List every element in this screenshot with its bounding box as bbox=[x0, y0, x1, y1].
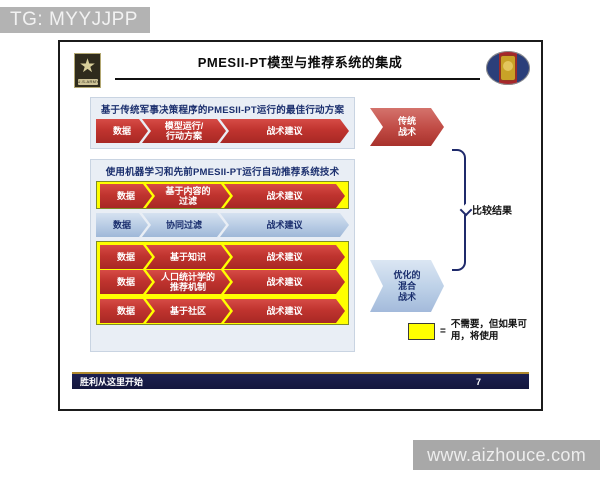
chevron-demographic-recommender: 人口统计学的推荐机制 bbox=[146, 270, 230, 294]
chevron-knowledge-based: 基于知识 bbox=[146, 245, 230, 269]
chevron-collaborative-filtering-label: 协同过滤 bbox=[164, 220, 204, 231]
chevron-tactic-advice: 战术建议 bbox=[224, 245, 345, 269]
page-title: PMESII-PT模型与推荐系统的集成 bbox=[120, 52, 480, 71]
chevron-content-based-filtering: 基于内容的过滤 bbox=[146, 184, 230, 208]
chevron-demographic-recommender-label: 人口统计学的推荐机制 bbox=[159, 272, 217, 293]
highlight-box-other-recommenders: 数据 基于知识 战术建议 数据 人口统计学的推荐机制 战术建议 数据 基于社区 … bbox=[96, 241, 349, 325]
chevron-data-label: 数据 bbox=[111, 126, 133, 137]
footer-page-number: 7 bbox=[476, 377, 521, 387]
legend-text: 不需要，但如果可用，将使用 bbox=[451, 319, 537, 343]
chevron-data-label: 数据 bbox=[115, 277, 137, 288]
telegram-tag-overlay: TG: MYYJJPP bbox=[0, 7, 150, 33]
footer-motto: 胜利从这里开始 bbox=[80, 375, 143, 388]
chevron-tactic-advice-label: 战术建议 bbox=[264, 191, 304, 202]
chevron-tactic-advice: 战术建议 bbox=[220, 119, 349, 143]
chevron-tactic-advice: 战术建议 bbox=[224, 184, 345, 208]
chevron-tactic-advice-label: 战术建议 bbox=[264, 306, 304, 317]
chevron-data: 数据 bbox=[100, 299, 152, 323]
panel-traditional-process: 基于传统军事决策程序的PMESII-PT运行的最佳行动方案 数据 模型运行/行动… bbox=[90, 97, 355, 149]
chevron-data-label: 数据 bbox=[111, 220, 133, 231]
chevron-content-based-filtering-label: 基于内容的过滤 bbox=[163, 186, 212, 207]
process-row-content-based: 数据 基于内容的过滤 战术建议 bbox=[100, 184, 345, 206]
chevron-data: 数据 bbox=[100, 184, 152, 208]
site-watermark: www.aizhouce.com bbox=[413, 440, 600, 470]
army-wordmark: U.S.ARMY bbox=[78, 79, 98, 85]
chevron-tactic-advice-label: 战术建议 bbox=[264, 252, 304, 263]
process-row-demographic: 数据 人口统计学的推荐机制 战术建议 bbox=[100, 270, 345, 296]
process-row-community-based: 数据 基于社区 战术建议 bbox=[100, 299, 345, 321]
legend-equals-sign: = bbox=[440, 326, 446, 337]
chevron-tactic-advice-label: 战术建议 bbox=[264, 277, 304, 288]
star-icon: ★ bbox=[79, 56, 96, 78]
chevron-model-run: 模型运行/行动方案 bbox=[142, 119, 226, 143]
us-army-star-logo: ★ U.S.ARMY bbox=[74, 53, 101, 88]
process-row-collaborative: 数据 协同过滤 战术建议 bbox=[96, 213, 349, 237]
chevron-data-label: 数据 bbox=[115, 191, 137, 202]
chevron-data-label: 数据 bbox=[115, 306, 137, 317]
chevron-data: 数据 bbox=[100, 245, 152, 269]
panel-machine-learning: 使用机器学习和先前PMESII-PT运行自动推荐系统技术 数据 基于内容的过滤 … bbox=[90, 159, 355, 352]
panel-traditional-header: 基于传统军事决策程序的PMESII-PT运行的最佳行动方案 bbox=[91, 98, 354, 119]
chevron-model-run-label: 模型运行/行动方案 bbox=[163, 121, 206, 142]
legend-yellow-swatch bbox=[408, 323, 435, 340]
highlight-box-content-based: 数据 基于内容的过滤 战术建议 bbox=[96, 181, 349, 209]
unit-crest-emblem bbox=[486, 51, 530, 85]
chevron-tactic-advice: 战术建议 bbox=[224, 299, 345, 323]
output-hybrid-tactic: 优化的混合战术 bbox=[370, 260, 444, 312]
chevron-data-label: 数据 bbox=[115, 252, 137, 263]
chevron-tactic-advice: 战术建议 bbox=[220, 213, 349, 237]
chevron-community-based: 基于社区 bbox=[146, 299, 230, 323]
output-traditional-tactic-label: 传统战术 bbox=[398, 116, 416, 138]
output-traditional-tactic: 传统战术 bbox=[370, 108, 444, 146]
chevron-collaborative-filtering: 协同过滤 bbox=[142, 213, 226, 237]
footer-bar: 胜利从这里开始 7 bbox=[72, 374, 529, 389]
chevron-tactic-advice-label: 战术建议 bbox=[264, 126, 304, 137]
crest-device-icon bbox=[501, 56, 515, 80]
chevron-tactic-advice-label: 战术建议 bbox=[264, 220, 304, 231]
output-hybrid-tactic-label: 优化的混合战术 bbox=[393, 270, 420, 303]
chevron-community-based-label: 基于社区 bbox=[168, 306, 208, 317]
title-divider bbox=[115, 78, 480, 80]
slide-canvas: ★ U.S.ARMY PMESII-PT模型与推荐系统的集成 基于传统军事决策程… bbox=[58, 40, 543, 411]
process-row-traditional: 数据 模型运行/行动方案 战术建议 bbox=[96, 119, 349, 143]
process-row-knowledge-based: 数据 基于知识 战术建议 bbox=[100, 245, 345, 267]
comparison-brace bbox=[452, 149, 466, 271]
chevron-data: 数据 bbox=[96, 213, 148, 237]
chevron-data: 数据 bbox=[100, 270, 152, 294]
chevron-data: 数据 bbox=[96, 119, 148, 143]
chevron-knowledge-based-label: 基于知识 bbox=[168, 252, 208, 263]
chevron-tactic-advice: 战术建议 bbox=[224, 270, 345, 294]
comparison-label: 比较结果 bbox=[472, 202, 512, 217]
panel-machine-learning-header: 使用机器学习和先前PMESII-PT运行自动推荐系统技术 bbox=[91, 160, 354, 181]
legend: = 不需要，但如果可用，将使用 bbox=[408, 319, 537, 343]
